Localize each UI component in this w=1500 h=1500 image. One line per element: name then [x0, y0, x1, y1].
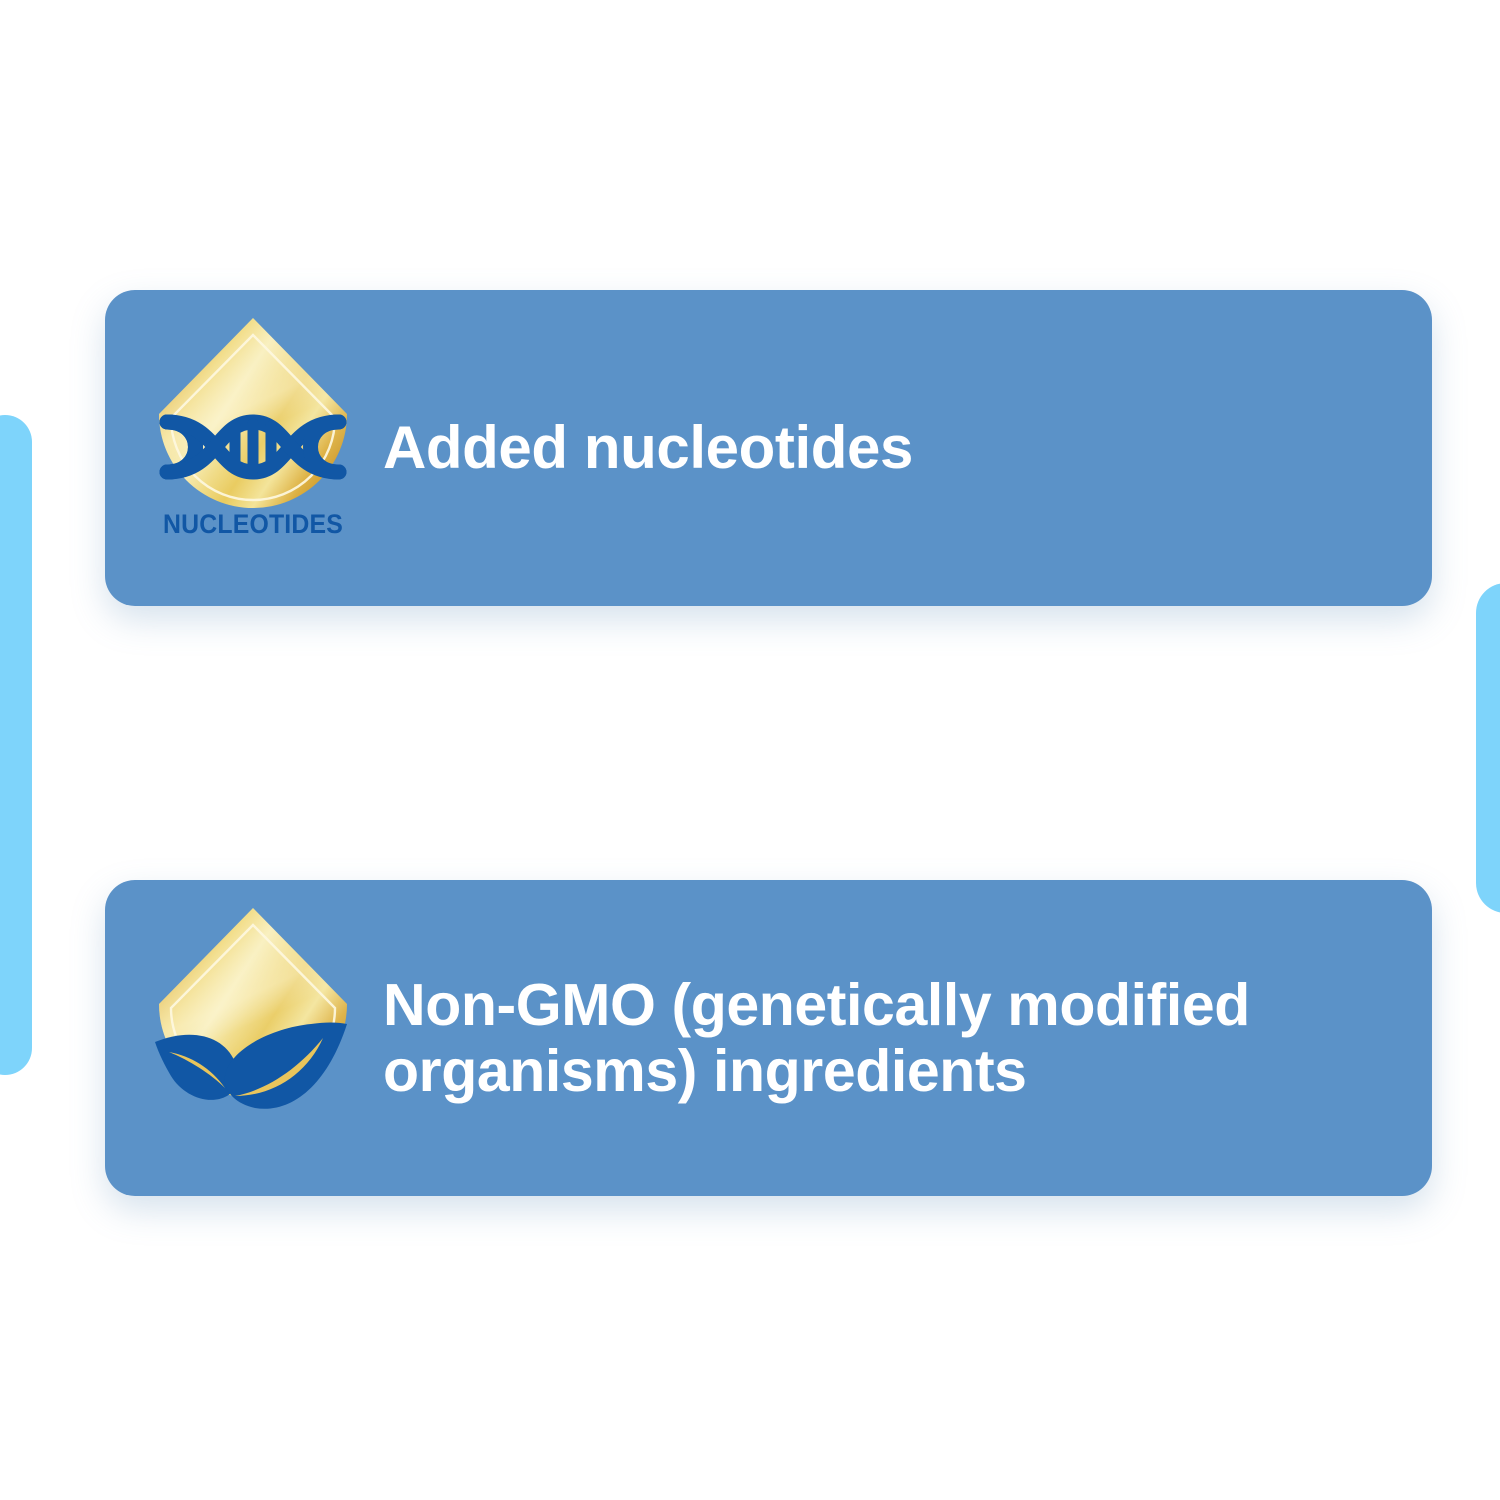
feature-card-label: Non-GMO (genetically modified organisms)…: [383, 972, 1432, 1104]
feature-cards-canvas: NUCLEOTIDES Added nucleotides: [0, 0, 1500, 1500]
left-accent-bar: [0, 415, 32, 1075]
feature-card-label: Added nucleotides: [383, 414, 983, 481]
badge-slot: NUCLEOTIDES: [123, 314, 383, 582]
right-accent-bar: [1476, 583, 1500, 913]
teardrop-gold-badge: [131, 904, 375, 1172]
feature-card-non-gmo[interactable]: Non-GMO (genetically modified organisms)…: [105, 880, 1432, 1196]
feature-card-added-nucleotides[interactable]: NUCLEOTIDES Added nucleotides: [105, 290, 1432, 606]
badge-slot: [123, 904, 383, 1172]
dna-rungs: [235, 424, 271, 470]
teardrop-gold-badge: NUCLEOTIDES: [131, 314, 375, 582]
badge-caption: NUCLEOTIDES: [141, 509, 365, 540]
